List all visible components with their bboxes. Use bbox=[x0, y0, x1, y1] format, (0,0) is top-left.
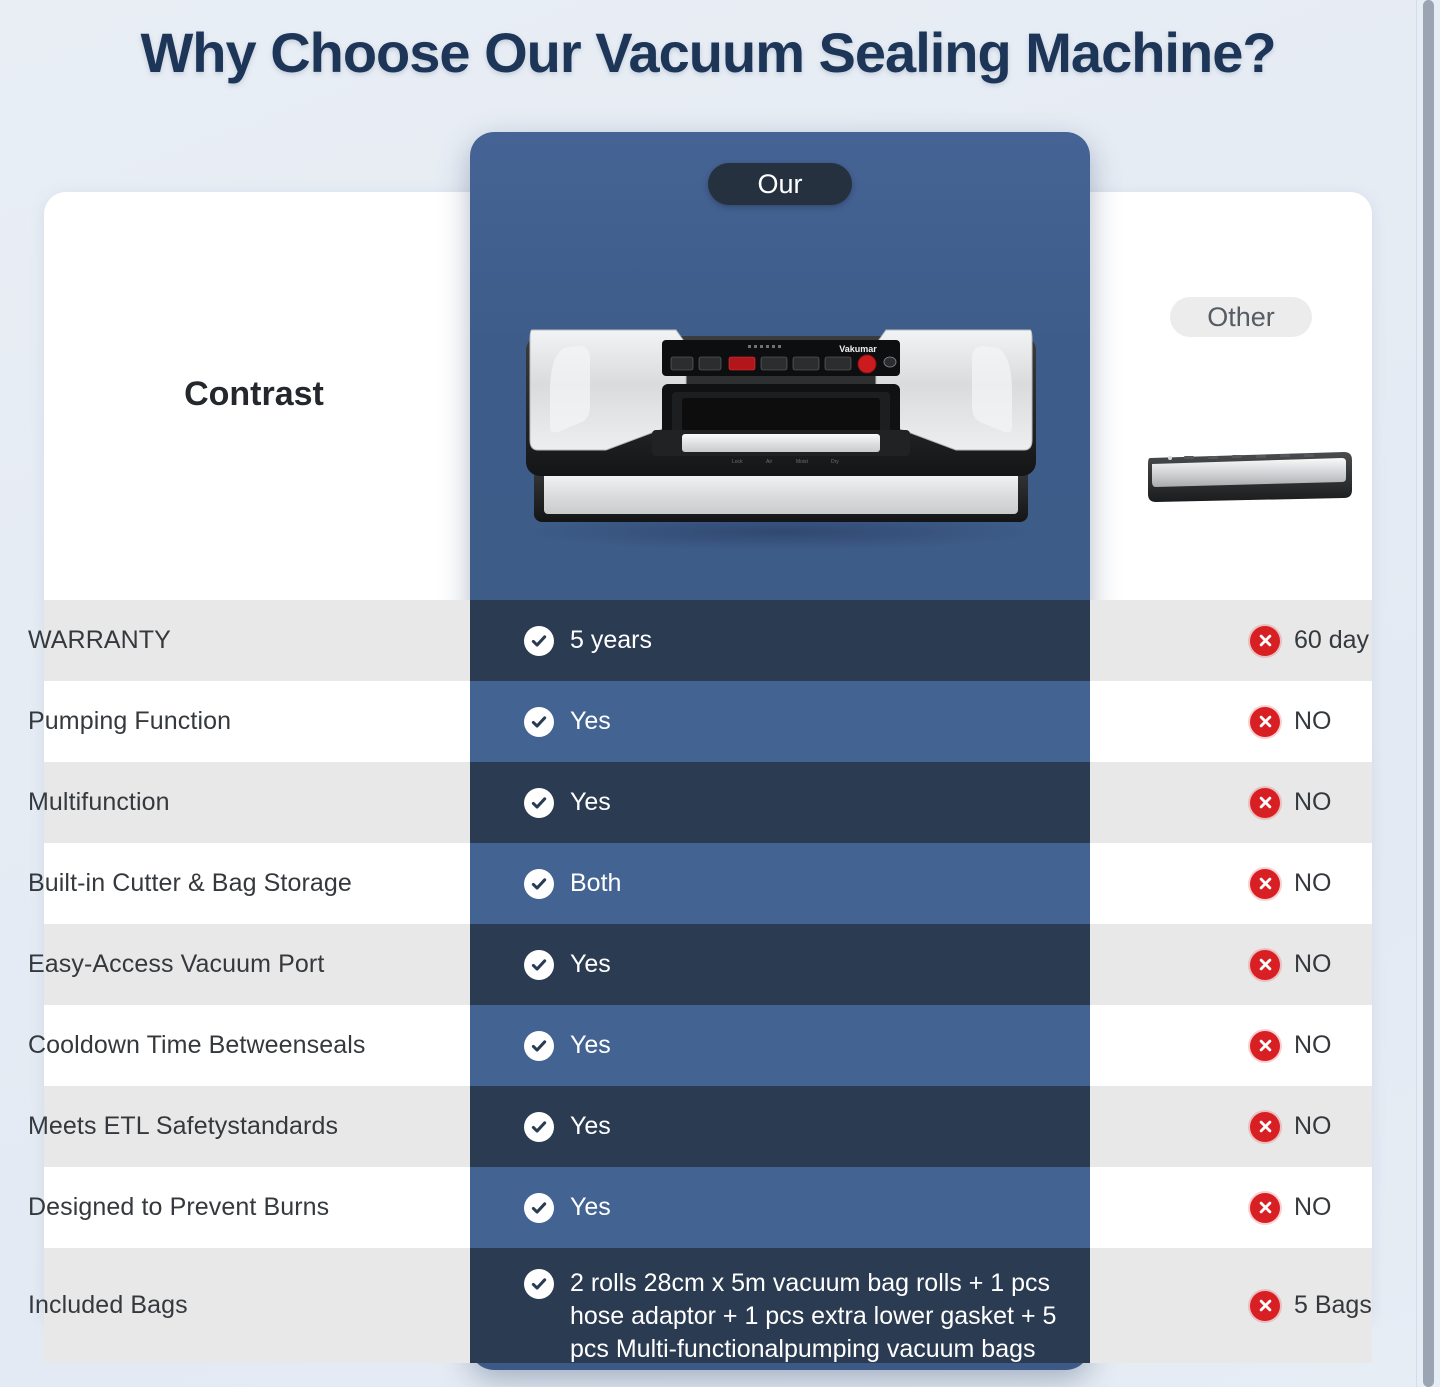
feature-label-cell: WARRANTY bbox=[0, 626, 470, 655]
other-value-text: 5 Bags bbox=[1294, 1291, 1372, 1320]
svg-text:Lock: Lock bbox=[732, 459, 743, 465]
feature-label-text: Designed to Prevent Burns bbox=[28, 1193, 329, 1221]
our-value-text: Yes bbox=[570, 950, 611, 979]
table-row: Built-in Cutter & Bag StorageBothNO bbox=[0, 843, 1416, 924]
table-row: Meets ETL SafetystandardsYesNO bbox=[0, 1086, 1416, 1167]
x-circle-icon bbox=[1250, 707, 1280, 737]
other-value-text: NO bbox=[1294, 788, 1332, 817]
feature-label-text: Built-in Cutter & Bag Storage bbox=[28, 869, 352, 897]
feature-label-text: WARRANTY bbox=[28, 626, 171, 654]
our-product-image: Vakumar Lock Air Mo bbox=[486, 300, 1076, 550]
table-row: Included Bags2 rolls 28cm x 5m vacuum ba… bbox=[0, 1248, 1416, 1363]
row-content: Built-in Cutter & Bag StorageBothNO bbox=[0, 869, 1416, 899]
our-value-cell: Yes bbox=[470, 1031, 1090, 1061]
contrast-header-label: Contrast bbox=[44, 375, 464, 414]
product-brand-text: Vakumar bbox=[839, 344, 877, 354]
x-circle-icon bbox=[1250, 1031, 1280, 1061]
other-value-cell: NO bbox=[1090, 707, 1416, 737]
feature-label-text: Multifunction bbox=[28, 788, 170, 816]
other-value-text: NO bbox=[1294, 1193, 1332, 1222]
row-content: MultifunctionYesNO bbox=[0, 788, 1416, 818]
check-circle-icon bbox=[524, 788, 554, 818]
other-value-cell: NO bbox=[1090, 788, 1416, 818]
table-row: WARRANTY5 years60 day bbox=[0, 600, 1416, 681]
our-value-text: Yes bbox=[570, 1031, 611, 1060]
check-circle-icon bbox=[524, 1193, 554, 1223]
row-content: Cooldown Time BetweensealsYesNO bbox=[0, 1031, 1416, 1061]
table-row: Cooldown Time BetweensealsYesNO bbox=[0, 1005, 1416, 1086]
x-circle-icon bbox=[1250, 1193, 1280, 1223]
other-product-image bbox=[1136, 432, 1364, 522]
svg-text:Dry: Dry bbox=[831, 459, 839, 465]
our-value-text: Yes bbox=[570, 788, 611, 817]
our-value-cell: Yes bbox=[470, 950, 1090, 980]
row-content: Easy-Access Vacuum PortYesNO bbox=[0, 950, 1416, 980]
our-value-cell: Yes bbox=[470, 1112, 1090, 1142]
x-circle-icon bbox=[1250, 626, 1280, 656]
page-scrollbar[interactable] bbox=[1416, 0, 1440, 1387]
table-row: Easy-Access Vacuum PortYesNO bbox=[0, 924, 1416, 1005]
our-value-cell: Yes bbox=[470, 788, 1090, 818]
check-circle-icon bbox=[524, 950, 554, 980]
feature-label-cell: Easy-Access Vacuum Port bbox=[0, 950, 470, 979]
other-value-text: NO bbox=[1294, 1031, 1332, 1060]
our-value-cell: Yes bbox=[470, 1193, 1090, 1223]
row-content: Included Bags2 rolls 28cm x 5m vacuum ba… bbox=[0, 1245, 1416, 1366]
table-row: MultifunctionYesNO bbox=[0, 762, 1416, 843]
our-value-text: Both bbox=[570, 869, 621, 898]
other-column-badge: Other bbox=[1170, 297, 1312, 337]
our-value-cell: Yes bbox=[470, 707, 1090, 737]
other-value-cell: 5 Bags bbox=[1090, 1291, 1416, 1321]
feature-label-text: Easy-Access Vacuum Port bbox=[28, 950, 324, 978]
feature-label-cell: Meets ETL Safetystandards bbox=[0, 1112, 470, 1141]
feature-label-cell: Cooldown Time Betweenseals bbox=[0, 1031, 470, 1060]
x-circle-icon bbox=[1250, 950, 1280, 980]
our-column-badge: Our bbox=[708, 163, 852, 205]
our-value-cell: 5 years bbox=[470, 626, 1090, 656]
other-value-cell: NO bbox=[1090, 1193, 1416, 1223]
comparison-table: Vakumar Lock Air Mo bbox=[0, 0, 1416, 1387]
feature-label-cell: Designed to Prevent Burns bbox=[0, 1193, 470, 1222]
other-value-cell: NO bbox=[1090, 869, 1416, 899]
our-value-cell: 2 rolls 28cm x 5m vacuum bag rolls + 1 p… bbox=[470, 1245, 1090, 1366]
row-content: Designed to Prevent BurnsYesNO bbox=[0, 1193, 1416, 1223]
x-circle-icon bbox=[1250, 1112, 1280, 1142]
svg-text:Moist: Moist bbox=[796, 459, 809, 465]
feature-rows: WARRANTY5 years60 dayPumping FunctionYes… bbox=[0, 600, 1416, 1363]
x-circle-icon bbox=[1250, 788, 1280, 818]
our-value-text: Yes bbox=[570, 707, 611, 736]
other-value-text: NO bbox=[1294, 950, 1332, 979]
other-value-cell: NO bbox=[1090, 1031, 1416, 1061]
check-circle-icon bbox=[524, 626, 554, 656]
x-circle-icon bbox=[1250, 869, 1280, 899]
our-value-text: Yes bbox=[570, 1112, 611, 1141]
feature-label-text: Pumping Function bbox=[28, 707, 231, 735]
our-value-text: 5 years bbox=[570, 626, 652, 655]
check-circle-icon bbox=[524, 869, 554, 899]
our-value-text: Yes bbox=[570, 1193, 611, 1222]
feature-label-cell: Multifunction bbox=[0, 788, 470, 817]
other-value-cell: NO bbox=[1090, 1112, 1416, 1142]
row-content: Meets ETL SafetystandardsYesNO bbox=[0, 1112, 1416, 1142]
feature-label-cell: Pumping Function bbox=[0, 707, 470, 736]
other-value-cell: NO bbox=[1090, 950, 1416, 980]
feature-label-text: Included Bags bbox=[28, 1291, 188, 1319]
check-circle-icon bbox=[524, 1031, 554, 1061]
other-value-text: NO bbox=[1294, 1112, 1332, 1141]
scrollbar-thumb[interactable] bbox=[1423, 0, 1434, 1387]
table-row: Designed to Prevent BurnsYesNO bbox=[0, 1167, 1416, 1248]
check-circle-icon bbox=[524, 1112, 554, 1142]
table-row: Pumping FunctionYesNO bbox=[0, 681, 1416, 762]
our-value-cell: Both bbox=[470, 869, 1090, 899]
our-value-text: 2 rolls 28cm x 5m vacuum bag rolls + 1 p… bbox=[570, 1267, 1090, 1366]
feature-label-cell: Built-in Cutter & Bag Storage bbox=[0, 869, 470, 898]
x-circle-icon bbox=[1250, 1291, 1280, 1321]
feature-label-cell: Included Bags bbox=[0, 1291, 470, 1320]
other-value-text: NO bbox=[1294, 707, 1332, 736]
feature-label-text: Meets ETL Safetystandards bbox=[28, 1112, 338, 1140]
check-circle-icon bbox=[524, 707, 554, 737]
row-content: WARRANTY5 years60 day bbox=[0, 626, 1416, 656]
other-value-cell: 60 day bbox=[1090, 626, 1416, 656]
feature-label-text: Cooldown Time Betweenseals bbox=[28, 1031, 366, 1059]
other-value-text: NO bbox=[1294, 869, 1332, 898]
row-content: Pumping FunctionYesNO bbox=[0, 707, 1416, 737]
svg-text:Air: Air bbox=[766, 459, 772, 465]
other-value-text: 60 day bbox=[1294, 626, 1369, 655]
check-circle-icon bbox=[524, 1269, 554, 1299]
